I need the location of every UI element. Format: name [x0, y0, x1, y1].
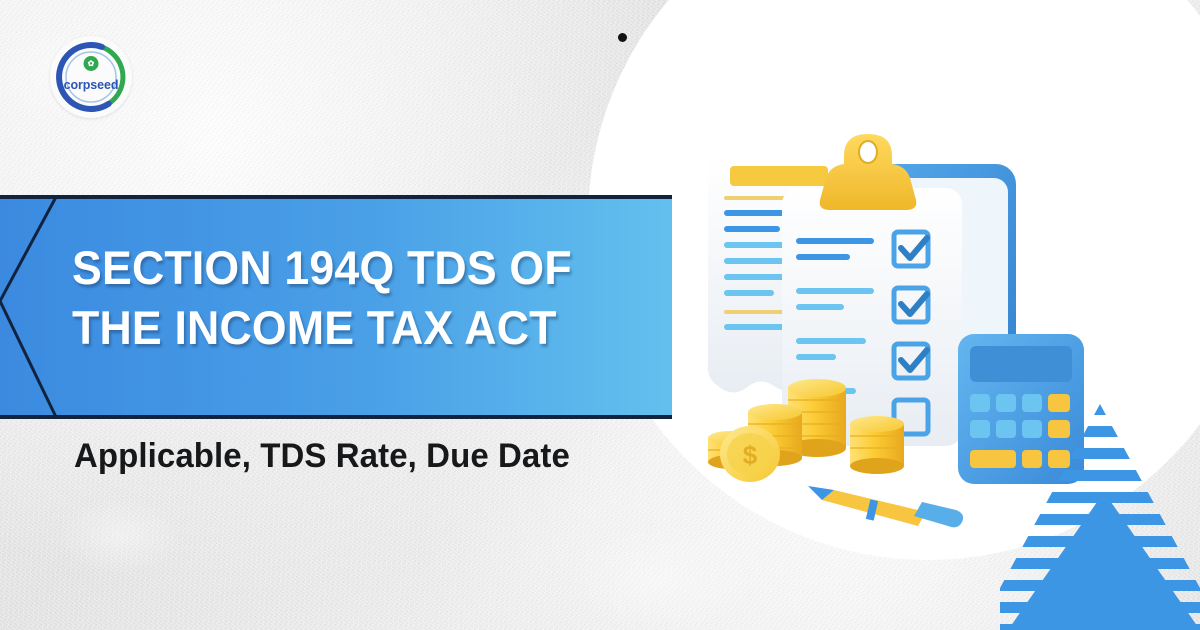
logo-rings [50, 36, 132, 118]
svg-text:$: $ [743, 440, 758, 470]
clipboard-clip [820, 134, 917, 210]
banner-title-line-2: THE INCOME TAX ACT [72, 298, 642, 358]
logo-wordmark: corpseed [50, 78, 132, 92]
pen [808, 486, 963, 527]
leaf-circle-icon: ✿ [84, 56, 99, 71]
striped-up-arrow [1000, 398, 1200, 630]
coin-stack-right [850, 416, 904, 474]
banner-subtitle: Applicable, TDS Rate, Due Date [74, 437, 570, 476]
corpseed-logo[interactable]: ✿ corpseed [50, 36, 132, 118]
coin-dollar-face: $ [720, 426, 780, 482]
banner-canvas: $ [0, 0, 1200, 630]
banner-title-line-1: SECTION 194Q TDS OF [72, 238, 642, 298]
logo-mark-glyph: ✿ [88, 60, 95, 68]
banner-title: SECTION 194Q TDS OF THE INCOME TAX ACT [72, 238, 672, 358]
